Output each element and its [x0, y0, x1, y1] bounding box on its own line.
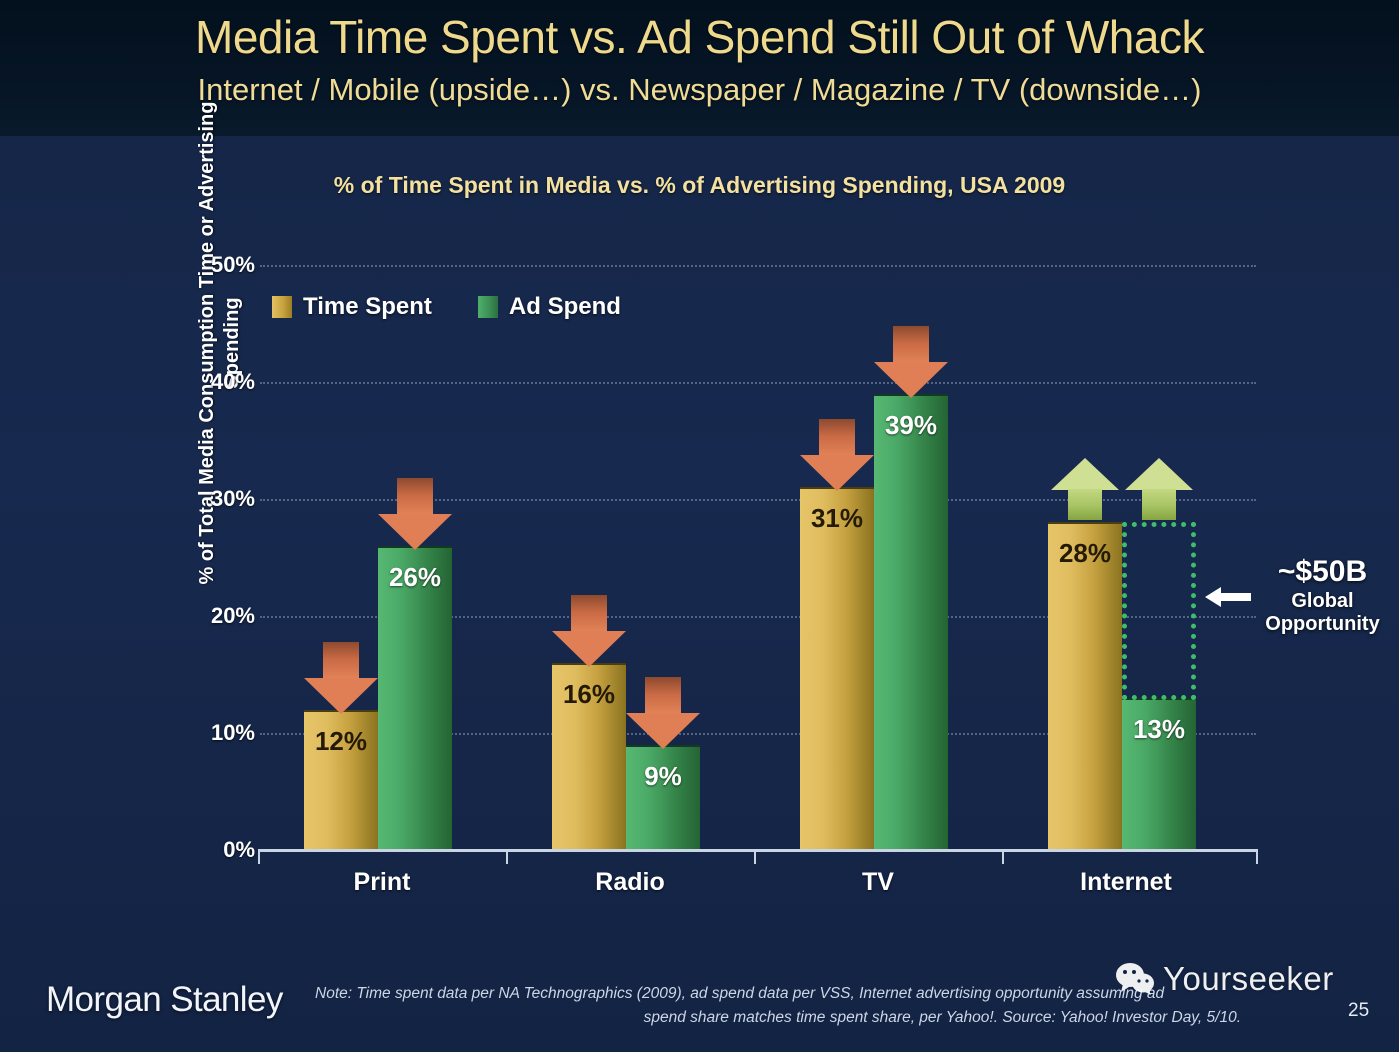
x-axis-tick-0 [258, 850, 260, 864]
y-tick-label-10: 10% [135, 720, 255, 746]
bar-value-radio-ad-spend: 9% [626, 761, 700, 792]
opportunity-gap-box [1122, 522, 1196, 700]
bar-tv-ad-spend[interactable]: 39% [874, 394, 948, 850]
x-axis-label-tv: TV [758, 868, 998, 897]
footnote: Note: Time spent data per NA Technograph… [315, 982, 1245, 1030]
legend-item-ad-spend[interactable]: Ad Spend [478, 293, 621, 321]
up-arrow-icon-internet-ad-spend [1125, 458, 1193, 520]
page-number: 25 [1348, 1000, 1369, 1022]
bar-print-ad-spend[interactable]: 26% [378, 546, 452, 850]
bar-value-internet-ad-spend: 13% [1122, 714, 1196, 745]
y-tick-label-50: 50% [135, 252, 255, 278]
gridline-50 [260, 265, 1256, 267]
watermark: Yourseeker [1115, 960, 1334, 998]
bar-radio-time-spent[interactable]: 16% [552, 663, 626, 850]
watermark-text: Yourseeker [1163, 960, 1334, 998]
gridline-40 [260, 382, 1256, 384]
chart-legend: Time Spent Ad Spend [272, 293, 621, 321]
y-tick-label-30: 30% [135, 486, 255, 512]
wechat-icon [1115, 962, 1155, 996]
bar-internet-ad-spend[interactable]: 13% [1122, 698, 1196, 850]
x-axis-tick-3 [1002, 850, 1004, 864]
x-axis-label-print: Print [262, 868, 502, 897]
legend-label-time-spent: Time Spent [303, 293, 432, 321]
morgan-stanley-logo: Morgan Stanley [46, 980, 283, 1020]
x-axis-label-radio: Radio [510, 868, 750, 897]
x-axis-tick-2 [754, 850, 756, 864]
bar-value-internet-time-spent: 28% [1048, 538, 1122, 569]
down-arrow-icon-radio-ad-spend [626, 677, 700, 749]
callout-arrow-icon [1205, 586, 1251, 608]
down-arrow-icon-tv-ad-spend [874, 326, 948, 398]
bar-value-radio-time-spent: 16% [552, 679, 626, 710]
y-axis-ticks: 50% 40% 30% 20% 10% 0% [0, 0, 255, 1052]
bar-internet-time-spent[interactable]: 28% [1048, 522, 1122, 850]
down-arrow-icon-tv-time-spent [800, 419, 874, 491]
y-tick-label-40: 40% [135, 369, 255, 395]
legend-swatch-icon-ad-spend [478, 296, 498, 318]
up-arrow-icon-internet-time-spent [1051, 458, 1119, 520]
down-arrow-icon-print-ad-spend [378, 478, 452, 550]
footnote-line-2: spend share matches time spent share, pe… [315, 1006, 1245, 1030]
x-axis-tick-4 [1256, 850, 1258, 864]
legend-swatch-icon-time-spent [272, 296, 292, 318]
bar-tv-time-spent[interactable]: 31% [800, 487, 874, 850]
down-arrow-icon-print-time-spent [304, 642, 378, 714]
x-axis-tick-1 [506, 850, 508, 864]
down-arrow-icon-radio-time-spent [552, 595, 626, 667]
x-axis-line [258, 849, 1258, 852]
legend-label-ad-spend: Ad Spend [509, 293, 621, 321]
legend-item-time-spent[interactable]: Time Spent [272, 293, 432, 321]
opportunity-amount: ~$50B [1246, 556, 1399, 588]
footnote-line-1: Note: Time spent data per NA Technograph… [315, 982, 1245, 1006]
bar-radio-ad-spend[interactable]: 9% [626, 745, 700, 850]
opportunity-description: Global Opportunity [1246, 590, 1399, 636]
bar-print-time-spent[interactable]: 12% [304, 710, 378, 850]
bar-value-print-time-spent: 12% [304, 726, 378, 757]
bar-value-tv-ad-spend: 39% [874, 410, 948, 441]
opportunity-callout: ~$50B Global Opportunity [1246, 556, 1399, 636]
y-tick-label-0: 0% [135, 837, 255, 863]
slide: Media Time Spent vs. Ad Spend Still Out … [0, 0, 1399, 1052]
bar-value-tv-time-spent: 31% [800, 503, 874, 534]
x-axis-label-internet: Internet [1006, 868, 1246, 897]
y-tick-label-20: 20% [135, 603, 255, 629]
bar-value-print-ad-spend: 26% [378, 562, 452, 593]
